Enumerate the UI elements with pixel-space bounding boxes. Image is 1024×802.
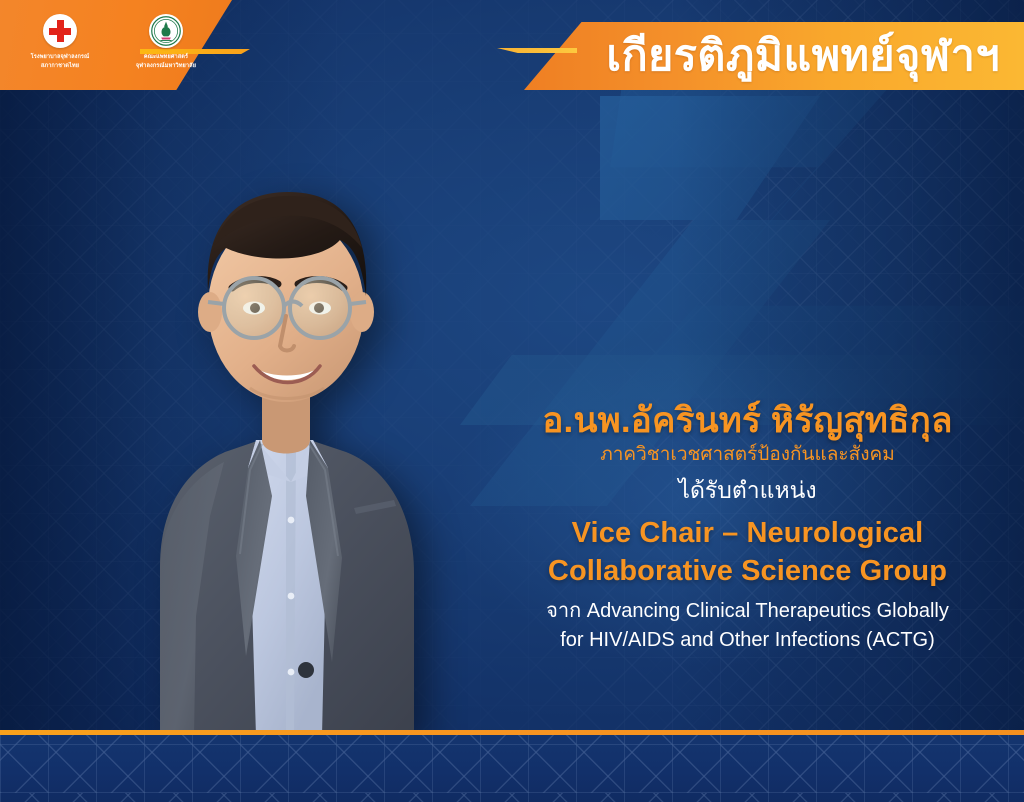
honor-announcement-poster: เกียรติภูมิแพทย์จุฬาฯ โรงพยาบาลจุฬาลงกรณ… bbox=[0, 0, 1024, 802]
footer-pattern-band bbox=[0, 735, 1024, 802]
awarding-organization: จาก Advancing Clinical Therapeutics Glob… bbox=[470, 597, 1024, 655]
logo-thai-red-cross: โรงพยาบาลจุฬาลงกรณ์ สภากาชาดไทย bbox=[16, 14, 104, 70]
red-cross-icon bbox=[43, 14, 77, 48]
organization-line-2: for HIV/AIDS and Other Infections (ACTG) bbox=[470, 626, 1024, 655]
page-title: เกียรติภูมิแพทย์จุฬาฯ bbox=[524, 22, 1024, 90]
footer-geometric-pattern bbox=[0, 735, 1024, 802]
honoree-department: ภาควิชาเวชศาสตร์ป้องกันและสังคม bbox=[470, 443, 1024, 468]
chulalongkorn-faculty-of-medicine-emblem-icon bbox=[149, 14, 183, 48]
logo-caption-red-cross: โรงพยาบาลจุฬาลงกรณ์ สภากาชาดไทย bbox=[31, 53, 90, 70]
logo-caption-faculty: คณะแพทยศาสตร์ จุฬาลงกรณ์มหาวิทยาลัย bbox=[136, 53, 196, 70]
organization-line-1: จาก Advancing Clinical Therapeutics Glob… bbox=[470, 597, 1024, 626]
received-position-label: ได้รับตำแหน่ง bbox=[470, 476, 1024, 506]
honoree-name: อ.นพ.อัครินทร์ หิรัญสุทธิกุล bbox=[470, 400, 1024, 441]
institution-logos: โรงพยาบาลจุฬาลงกรณ์ สภากาชาดไทย คณะแพทยศ… bbox=[0, 0, 220, 90]
position-title: Vice Chair – Neurological Collaborative … bbox=[470, 514, 1024, 591]
logo-faculty-of-medicine: คณะแพทยศาสตร์ จุฬาลงกรณ์มหาวิทยาลัย bbox=[122, 14, 210, 70]
honoree-portrait-photo bbox=[10, 96, 480, 736]
position-title-line-2: Collaborative Science Group bbox=[470, 552, 1024, 590]
honoree-info-block: อ.นพ.อัครินทร์ หิรัญสุทธิกุล ภาควิชาเวชศ… bbox=[470, 400, 1024, 655]
position-title-line-1: Vice Chair – Neurological bbox=[470, 514, 1024, 552]
